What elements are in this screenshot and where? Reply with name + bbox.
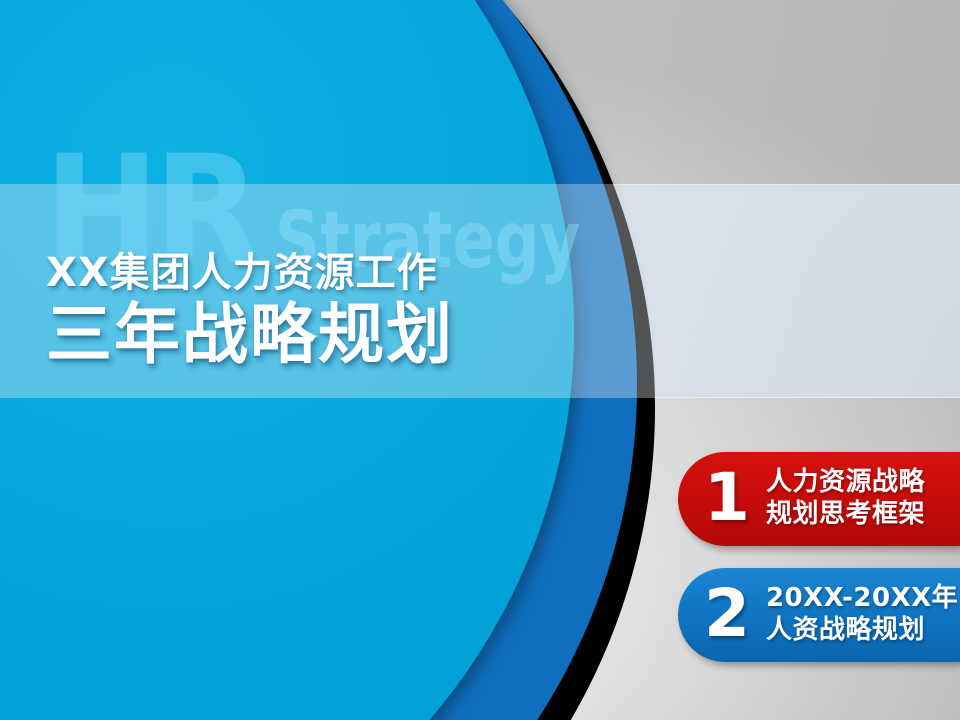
title-block: XX集团人力资源工作 三年战略规划 bbox=[46, 252, 454, 372]
agenda-label-1: 人力资源战略 规划思考框架 bbox=[766, 467, 925, 530]
agenda-item-1[interactable]: 1 人力资源战略 规划思考框架 bbox=[678, 452, 960, 546]
agenda-label-2-line1: 20XX-20XX年 bbox=[766, 583, 958, 615]
agenda-item-2[interactable]: 2 20XX-20XX年 人资战略规划 bbox=[678, 568, 960, 662]
slide-subtitle: XX集团人力资源工作 bbox=[46, 252, 454, 295]
agenda-label-1-line2: 规划思考框架 bbox=[766, 499, 925, 531]
agenda-label-1-line1: 人力资源战略 bbox=[766, 467, 925, 499]
slide-title: 三年战略规划 bbox=[46, 299, 454, 372]
agenda-label-2-line2: 人资战略规划 bbox=[766, 615, 958, 647]
agenda-number-2: 2 bbox=[704, 581, 750, 647]
agenda-number-1: 1 bbox=[704, 465, 750, 531]
presentation-slide: HR Strategy XX集团人力资源工作 三年战略规划 1 人力资源战略 规… bbox=[0, 0, 960, 720]
agenda-label-2: 20XX-20XX年 人资战略规划 bbox=[766, 583, 958, 646]
